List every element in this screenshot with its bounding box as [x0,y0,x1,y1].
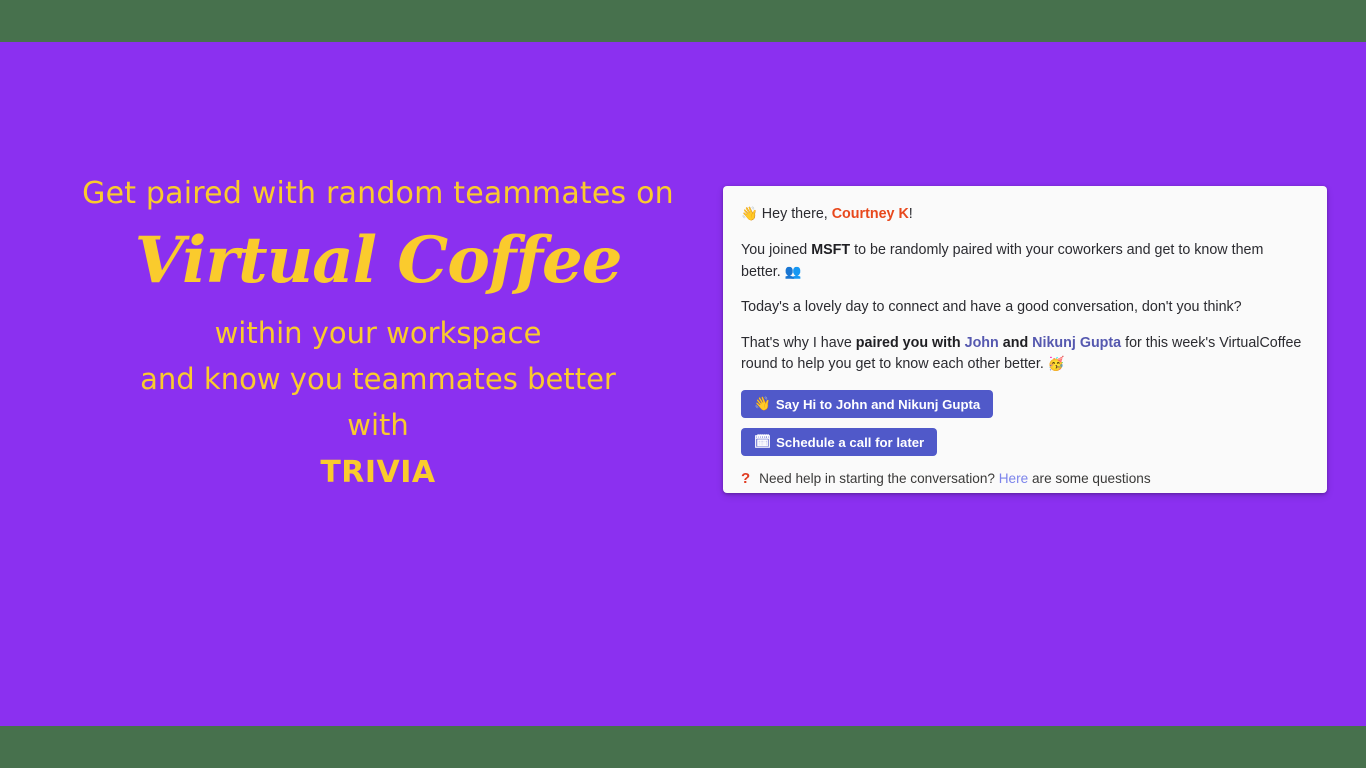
pairing-bold-phrase: paired you with [856,335,961,351]
help-hint-line: ? Need help in starting the conversation… [741,469,1307,489]
calendar-icon: 🗓 [754,434,771,450]
help-prefix: Need help in starting the conversation? [759,471,999,486]
paired-person-two[interactable]: Nikunj Gupta [1032,335,1121,351]
help-questions-link[interactable]: Here [999,471,1028,486]
promo-subline-2: and know you teammates better [40,356,716,402]
conversation-prompt-line: Today's a lovely day to connect and have… [741,297,1307,318]
help-hint-text: Need help in starting the conversation? … [759,469,1150,489]
greeting-line: 👋 Hey there, Courtney K! [741,204,1307,225]
joined-prefix: You joined [741,242,811,258]
slide-canvas: Get paired with random teammates on Virt… [0,0,1366,768]
pairing-announcement-line: That's why I have paired you with John a… [741,333,1307,375]
schedule-call-button-label: Schedule a call for later [776,435,924,450]
promo-headline: Get paired with random teammates on [40,172,716,216]
bottom-band [0,726,1366,768]
workspace-join-line: You joined MSFT to be randomly paired wi… [741,240,1307,283]
promo-trivia-label: TRIVIA [40,450,716,496]
wave-hand-icon: 👋 [741,206,758,222]
party-face-icon: 🥳 [1048,356,1065,372]
pairing-conjunction: and [1003,335,1028,351]
recipient-name: Courtney K [832,206,909,222]
paired-person-one[interactable]: John [965,335,999,351]
question-mark-icon: ? [741,469,750,489]
say-hi-button[interactable]: 👋 Say Hi to John and Nikunj Gupta [741,390,993,418]
promo-brand-title: Virtual Coffee [40,218,716,304]
pairing-prefix: That's why I have [741,335,856,351]
chat-message-card: 👋 Hey there, Courtney K! You joined MSFT… [723,186,1327,493]
promo-text-block: Get paired with random teammates on Virt… [40,172,716,496]
greeting-prefix: Hey there, [762,206,832,222]
busts-in-silhouette-icon: 👥 [785,262,802,283]
top-band [0,0,1366,42]
say-hi-button-label: Say Hi to John and Nikunj Gupta [776,397,980,412]
promo-subline-1: within your workspace [40,310,716,356]
wave-hand-icon: 👋 [754,396,771,412]
workspace-name: MSFT [811,242,850,258]
greeting-suffix: ! [909,206,913,222]
schedule-call-button[interactable]: 🗓 Schedule a call for later [741,428,937,456]
promo-subline-3: with [40,402,716,448]
say-hi-button-row: 👋 Say Hi to John and Nikunj Gupta [741,390,1307,418]
help-suffix: are some questions [1028,471,1150,486]
schedule-call-button-row: 🗓 Schedule a call for later [741,428,1307,456]
